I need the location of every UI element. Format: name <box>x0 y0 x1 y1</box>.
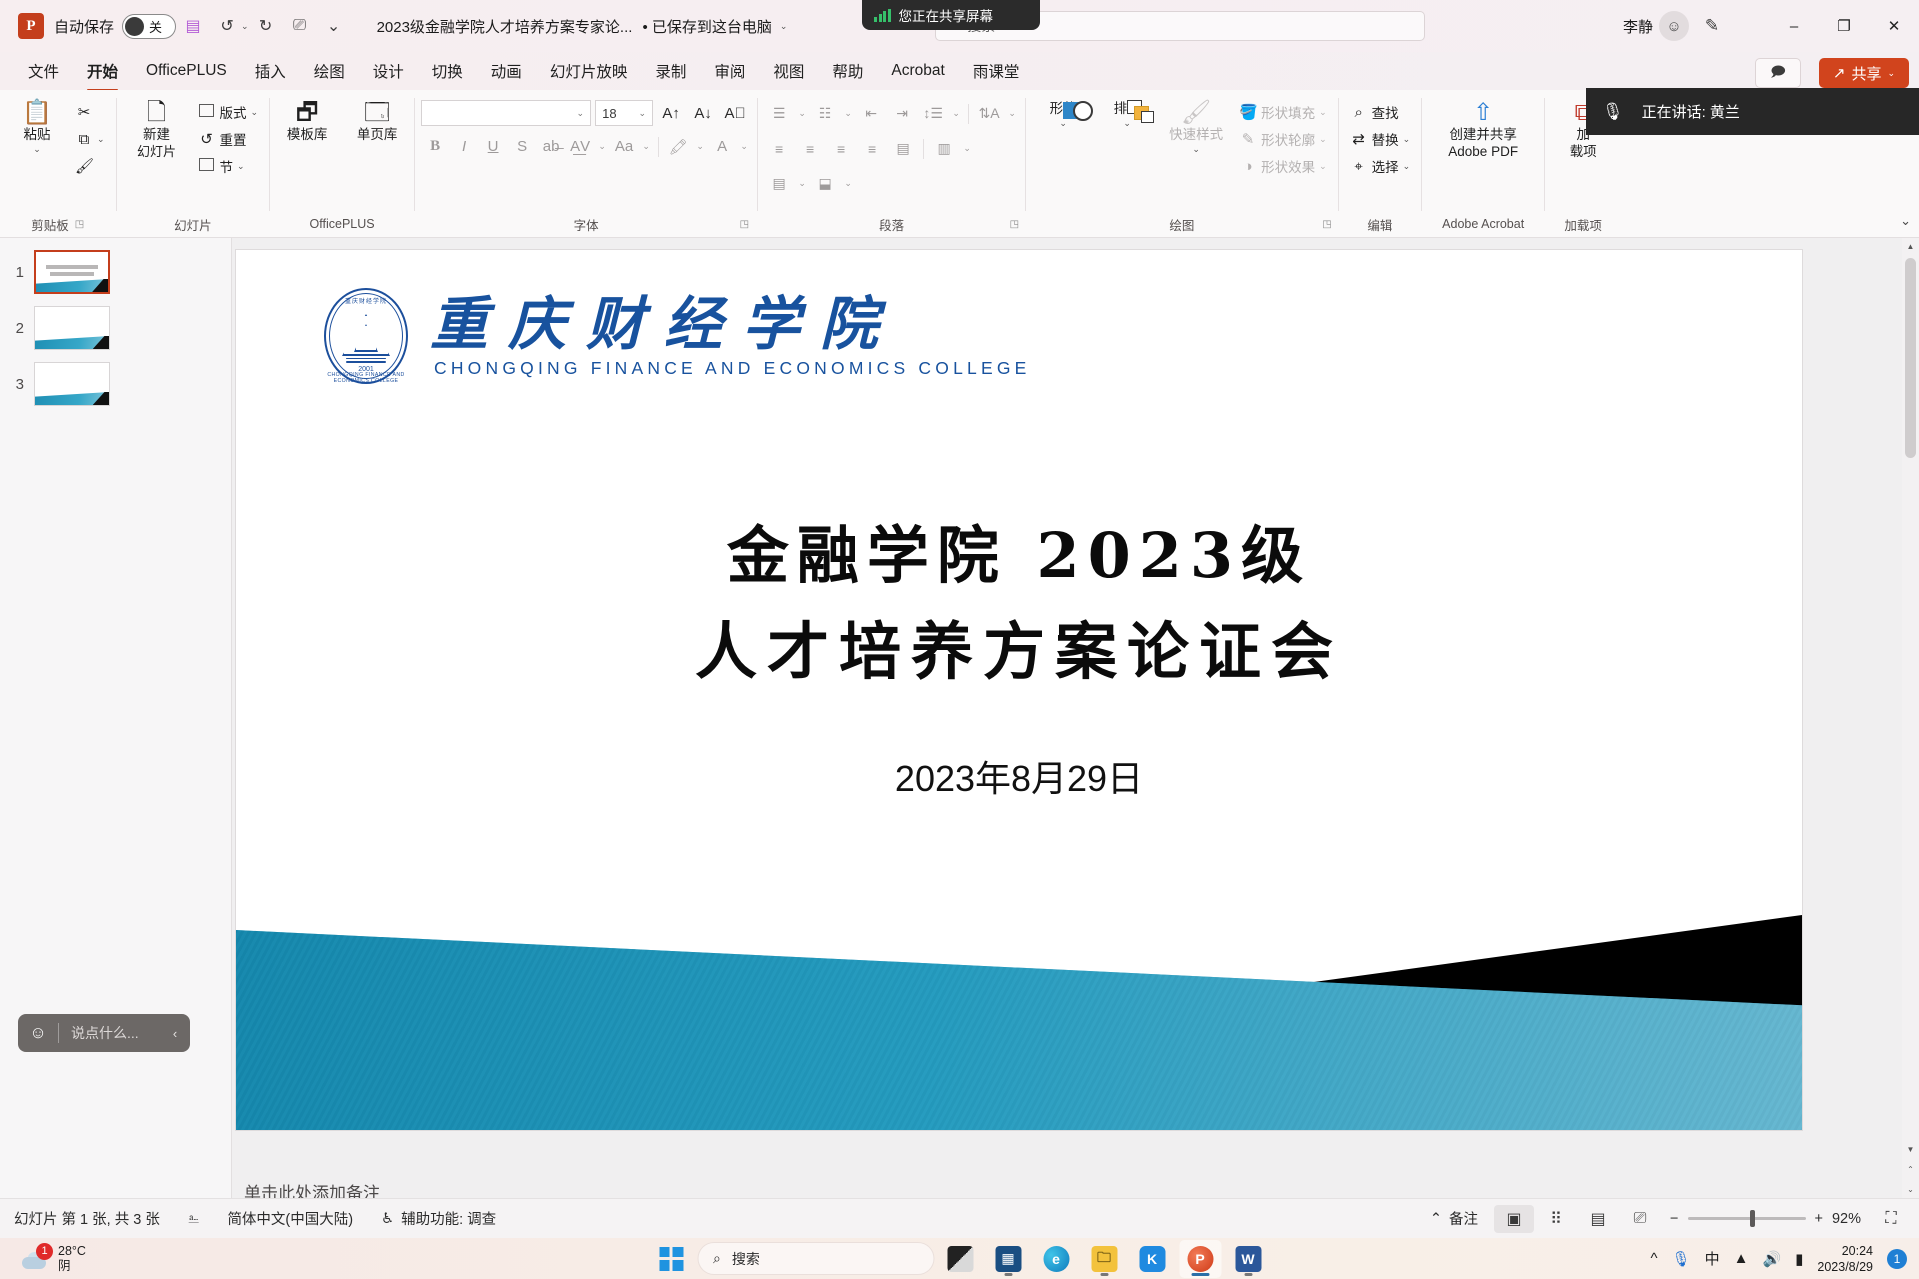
italic-button[interactable]: I <box>450 133 478 160</box>
share-icon: ↗ <box>1833 64 1846 82</box>
wps-office-icon[interactable]: K <box>1131 1240 1173 1278</box>
tab-yuketang[interactable]: 雨课堂 <box>959 55 1034 87</box>
university-seal-icon: 重庆财经学院 2001 CHONGQING FINANCE AND ECONOM… <box>318 288 414 384</box>
arrange-button[interactable]: 排列 ⌄ <box>1096 94 1158 129</box>
distribute-icon[interactable]: ▤ <box>888 135 918 162</box>
shape-outline-button: ✎形状轮廓⌄ <box>1234 126 1332 152</box>
tab-review[interactable]: 审阅 <box>700 55 759 87</box>
volume-icon[interactable]: 🔊 <box>1762 1250 1781 1268</box>
taskbar-center: ⌕ 搜索 ▦ e 🗀 K P <box>650 1240 1269 1278</box>
accessibility-status[interactable]: ♿ 辅助功能: 调查 <box>367 1208 510 1229</box>
decrease-indent-icon[interactable]: ⇤ <box>856 100 886 127</box>
notes-toggle-label: 备注 <box>1449 1208 1478 1229</box>
single-page-library-button[interactable]: 🗔 单页库 <box>346 94 408 143</box>
shapes-button[interactable]: 形状 ⌄ <box>1032 94 1094 129</box>
chevron-down-icon: ⌄ <box>1319 107 1327 118</box>
thumbnail-item[interactable]: 3 <box>0 350 231 406</box>
thumbnail-number: 3 <box>10 362 24 393</box>
toggle-knob <box>125 17 144 36</box>
chevron-down-icon[interactable]: ⌄ <box>97 134 105 145</box>
save-icon[interactable]: ▤ <box>178 11 208 41</box>
shape-fill-label: 形状填充 <box>1261 102 1315 122</box>
group-label-font: 字体 <box>574 215 599 234</box>
share-label: 共享 <box>1851 63 1881 84</box>
ribbon-group-acrobat: ⇧ 创建并共享 Adobe PDF Adobe Acrobat <box>1422 90 1544 237</box>
section-button[interactable]: 节⌄ <box>193 153 264 179</box>
ribbon-tabs: 文件 开始 OfficePLUS 插入 绘图 设计 切换 动画 幻灯片放映 录制… <box>0 52 1919 90</box>
drawing-dialog-launcher[interactable]: ◳ <box>1322 219 1331 230</box>
thumbnail-number: 1 <box>10 250 24 281</box>
find-button[interactable]: ⌕查找 <box>1345 99 1416 125</box>
taskbar: 1 28°C 阴 ⌕ 搜索 ▦ e <box>0 1238 1919 1279</box>
create-share-label-2: Adobe PDF <box>1448 144 1518 160</box>
slide-date-textbox[interactable]: 2023年8月29日 <box>236 750 1802 802</box>
slide-thumbnail-1[interactable] <box>34 250 110 294</box>
shape-outline-label: 形状轮廓 <box>1261 129 1315 149</box>
maximize-button[interactable]: ❐ <box>1819 0 1869 52</box>
cut-button[interactable]: ✂ <box>70 99 110 125</box>
chevron-down-icon[interactable]: ⌄ <box>595 133 609 160</box>
zoom-in-button[interactable]: + <box>1815 1211 1823 1227</box>
language-indicator[interactable]: 简体中文(中国大陆) <box>213 1208 367 1229</box>
widgets-icon[interactable] <box>939 1240 981 1278</box>
clock-date: 2023/8/29 <box>1817 1260 1873 1274</box>
copy-button[interactable]: ⧉⌄ <box>70 126 110 152</box>
group-label-acrobat: Adobe Acrobat <box>1442 217 1524 231</box>
slide-canvas[interactable]: 重庆财经学院 2001 CHONGQING FINANCE AND ECONOM… <box>236 250 1802 1130</box>
weather-widget[interactable]: 1 28°C 阴 <box>0 1244 86 1274</box>
new-slide-label-2: 幻灯片 <box>137 144 176 160</box>
tab-record[interactable]: 录制 <box>641 55 700 87</box>
weather-temperature: 28°C <box>58 1244 86 1259</box>
divider <box>658 137 659 157</box>
wifi-icon[interactable]: ▲ <box>1734 1250 1749 1267</box>
zoom-slider[interactable] <box>1688 1217 1806 1220</box>
fit-to-window-button[interactable]: ⛶ <box>1871 1205 1911 1233</box>
replace-label: 替换 <box>1372 129 1399 149</box>
title-line-2: 人才培养方案论证会 <box>236 602 1802 702</box>
copy-icon: ⧉ <box>75 131 93 148</box>
create-share-label-1: 创建并共享 <box>1449 127 1517 143</box>
slide-editor[interactable]: 重庆财经学院 2001 CHONGQING FINANCE AND ECONOM… <box>236 238 1882 1168</box>
chevron-down-icon[interactable]: ⌄ <box>1059 118 1067 129</box>
reading-view-button[interactable]: ▤ <box>1578 1205 1618 1233</box>
shape-fill-button: 🪣形状填充⌄ <box>1234 99 1332 125</box>
notification-center-badge[interactable]: 1 <box>1887 1249 1907 1269</box>
group-label-slides: 幻灯片 <box>174 215 212 234</box>
scissors-icon: ✂ <box>75 103 93 121</box>
quick-styles-icon: 🖌 <box>1181 100 1211 126</box>
taskbar-search-placeholder: 搜索 <box>732 1249 760 1269</box>
template-library-button[interactable]: 🗗 模板库 <box>276 94 338 143</box>
powerpoint-taskbar-icon[interactable]: P <box>1179 1240 1221 1278</box>
shape-outline-icon: ✎ <box>1239 130 1257 148</box>
layout-button[interactable]: 版式⌄ <box>193 99 264 125</box>
find-label: 查找 <box>1372 102 1399 122</box>
create-share-pdf-button[interactable]: ⇧ 创建并共享 Adobe PDF <box>1428 94 1538 160</box>
collapse-chat-icon[interactable]: ‹ <box>160 1026 190 1041</box>
font-dialog-launcher[interactable]: ◳ <box>740 219 749 230</box>
chevron-down-icon: ⌄ <box>1319 161 1327 172</box>
close-button[interactable]: ✕ <box>1869 0 1919 52</box>
chevron-down-icon[interactable]: ⌄ <box>795 100 809 127</box>
notes-toggle-button[interactable]: ⌃ 备注 <box>1416 1208 1492 1229</box>
taskbar-clock[interactable]: 20:24 2023/8/29 <box>1817 1243 1873 1275</box>
thumbnail-item[interactable]: 1 <box>0 238 231 294</box>
window-controls: – ❐ ✕ <box>1769 0 1919 52</box>
increase-font-size-icon[interactable]: A↑ <box>657 100 685 126</box>
align-left-icon[interactable]: ≡ <box>764 135 794 162</box>
zoom-control[interactable]: − + 92% <box>1662 1211 1869 1227</box>
show-hidden-icons-icon[interactable]: ^ <box>1650 1250 1657 1267</box>
undo-icon[interactable]: ↺ <box>212 11 242 41</box>
chevron-down-icon[interactable]: ⌄ <box>841 100 855 127</box>
change-case-button[interactable]: Aa <box>610 133 638 160</box>
shape-effects-label: 形状效果 <box>1261 156 1315 176</box>
ribbon-group-slides: 🗋 新建 幻灯片 版式⌄ ↺重置 节⌄ 幻灯片 <box>117 90 270 237</box>
undo-dropdown-icon[interactable]: ⌄ <box>241 21 249 32</box>
battery-charging-icon[interactable]: ▮ <box>1795 1250 1803 1268</box>
work-area: 1 2 3 <box>0 238 1919 1198</box>
file-explorer-icon[interactable]: 🗀 <box>1083 1240 1125 1278</box>
tab-insert[interactable]: 插入 <box>241 55 300 87</box>
chevron-down-icon[interactable]: ⌄ <box>1005 100 1019 127</box>
numbering-icon[interactable]: ☷ <box>810 100 840 127</box>
font-size-input[interactable]: 18 ⌄ <box>595 100 653 126</box>
autosave-toggle[interactable]: 关 <box>122 14 176 39</box>
saved-state-dropdown-icon[interactable]: ⌄ <box>780 21 788 32</box>
user-name: 李静 <box>1623 16 1653 37</box>
addins-label-2: 载项 <box>1570 144 1597 160</box>
share-button[interactable]: ↗ 共享 ⌄ <box>1819 58 1909 88</box>
ribbon-group-drawing: 形状 ⌄ 排列 ⌄ 🖌 快速样式 ⌄ 🪣形状填充⌄ ✎形状 <box>1026 90 1338 237</box>
start-presentation-icon[interactable]: ⎚ <box>285 11 315 41</box>
vertical-scrollbar[interactable]: ▲ ▼ ⌃ ⌄ <box>1902 238 1919 1198</box>
chevron-down-icon[interactable]: ⌄ <box>795 170 809 197</box>
single-page-library-icon: 🗔 <box>364 100 390 126</box>
justify-icon[interactable]: ≡ <box>857 135 887 162</box>
thumb-title-line <box>46 265 98 269</box>
shape-effects-icon: ◑ <box>1239 158 1257 175</box>
group-label-drawing: 绘图 <box>1169 215 1194 234</box>
speaking-text: 正在讲话: 黄兰 <box>1642 101 1740 122</box>
divider <box>968 104 969 124</box>
chevron-down-icon[interactable]: ⌄ <box>693 133 707 160</box>
microsoft-store-icon[interactable]: ▦ <box>987 1240 1029 1278</box>
thumb-title-line <box>50 272 94 276</box>
columns-icon[interactable]: ▥ <box>929 135 959 162</box>
next-slide-icon[interactable]: ⌄ <box>1902 1181 1919 1198</box>
chevron-down-icon[interactable]: ⌄ <box>841 170 855 197</box>
chevron-down-icon[interactable]: ⌄ <box>949 100 963 127</box>
section-label: 节 <box>220 156 234 176</box>
microsoft-edge-icon[interactable]: e <box>1035 1240 1077 1278</box>
template-library-icon: 🗗 <box>296 100 319 126</box>
tab-view[interactable]: 视图 <box>759 55 818 87</box>
comments-button[interactable]: 🗩 <box>1755 58 1801 88</box>
group-label-paragraph: 段落 <box>879 215 904 234</box>
seal-arc-bottom-text: CHONGQING FINANCE AND ECONOMICS COLLEGE <box>318 372 414 384</box>
tab-help[interactable]: 帮助 <box>818 55 877 87</box>
group-label-clipboard: 剪贴板 <box>31 215 69 234</box>
quick-styles-button: 🖌 快速样式 ⌄ <box>1160 94 1232 155</box>
logo-english-name: CHONGQING FINANCE AND ECONOMICS COLLEGE <box>430 358 1031 379</box>
font-name-input[interactable]: ⌄ <box>421 100 591 126</box>
powerpoint-icon: P <box>18 13 44 39</box>
convert-smartart-icon[interactable]: ⬓ <box>810 170 840 197</box>
chevron-down-icon: ⌄ <box>1192 144 1200 155</box>
chevron-down-icon: ⌄ <box>639 108 647 119</box>
signal-bars-icon <box>874 9 891 22</box>
scrollbar-thumb[interactable] <box>1905 258 1916 458</box>
search-icon: ⌕ <box>1350 104 1368 121</box>
tab-officeplus[interactable]: OfficePLUS <box>132 57 241 85</box>
ribbon-group-officeplus: 🗗 模板库 🗔 单页库 OfficePLUS <box>270 90 414 237</box>
new-slide-button[interactable]: 🗋 新建 幻灯片 <box>123 94 191 160</box>
saved-state-label[interactable]: • 已保存到这台电脑 <box>642 16 771 37</box>
autosave-state: 关 <box>149 17 162 36</box>
chevron-down-icon: ⌄ <box>1319 134 1327 145</box>
align-right-icon[interactable]: ≡ <box>826 135 856 162</box>
layout-icon <box>198 104 216 121</box>
font-color-icon[interactable]: A <box>708 133 736 160</box>
chat-placeholder[interactable]: 说点什么... <box>59 1023 160 1043</box>
thumbnail-number: 2 <box>10 306 24 337</box>
slide-title-textbox[interactable]: 金融学院 2023级 人才培养方案论证会 <box>236 510 1802 702</box>
chevron-down-icon: ⌄ <box>1403 134 1411 145</box>
group-label-officeplus: OfficePLUS <box>310 217 375 231</box>
increase-indent-icon[interactable]: ⇥ <box>887 100 917 127</box>
customize-quick-access-icon[interactable]: ⌄ <box>319 11 349 41</box>
group-label-addins: 加载项 <box>1564 215 1602 234</box>
replace-icon: ⇄ <box>1350 130 1368 148</box>
ribbon-group-editing: ⌕查找 ⇄替换⌄ ⌖选择⌄ 编辑 <box>1339 90 1422 237</box>
clock-time: 20:24 <box>1842 1244 1873 1258</box>
screen-sharing-banner[interactable]: 您正在共享屏幕 <box>862 0 1040 30</box>
scroll-down-icon[interactable]: ▼ <box>1902 1141 1919 1158</box>
new-slide-icon: 🗋 <box>147 100 166 126</box>
single-page-library-label: 单页库 <box>357 127 398 143</box>
chevron-down-icon[interactable]: ⌄ <box>1123 118 1131 129</box>
zoom-slider-handle[interactable] <box>1750 1210 1755 1227</box>
accessibility-label: 辅助功能: 调查 <box>401 1208 496 1229</box>
zoom-out-button[interactable]: − <box>1670 1211 1678 1227</box>
reset-icon: ↺ <box>198 130 216 148</box>
underline-button[interactable]: U <box>479 133 507 160</box>
tab-draw[interactable]: 绘图 <box>300 55 359 87</box>
text-direction-icon[interactable]: ⇅A <box>974 100 1004 127</box>
zoom-value[interactable]: 92% <box>1832 1211 1861 1227</box>
select-label: 选择 <box>1372 156 1399 176</box>
paragraph-dialog-launcher[interactable]: ◳ <box>1010 219 1019 230</box>
logo-chinese-name: 重庆财经学院 <box>430 294 1031 356</box>
character-spacing-button[interactable]: A͟V <box>566 133 594 160</box>
quick-styles-label: 快速样式 <box>1169 127 1223 143</box>
tab-transitions[interactable]: 切换 <box>418 55 477 87</box>
ribbon-group-clipboard: 📋 粘贴 ⌄ ✂ ⧉⌄ 🖌 剪贴板 ◳ <box>0 90 116 237</box>
smiley-icon[interactable]: ☺ <box>18 1023 58 1043</box>
shape-fill-icon: 🪣 <box>1239 103 1257 121</box>
chevron-down-icon: ⌄ <box>1887 68 1895 79</box>
bullets-icon[interactable]: ☰ <box>764 100 794 127</box>
pen-annotation-icon[interactable]: ✎ <box>1695 9 1729 43</box>
status-bar: 幻灯片 第 1 张, 共 3 张 ⎁ 简体中文(中国大陆) ♿ 辅助功能: 调查… <box>0 1198 1919 1238</box>
autosave-label: 自动保存 <box>54 16 114 37</box>
screen-sharing-text: 您正在共享屏幕 <box>899 5 994 25</box>
align-text-icon[interactable]: ▤ <box>764 170 794 197</box>
word-taskbar-icon[interactable]: W <box>1227 1240 1269 1278</box>
reset-button[interactable]: ↺重置 <box>193 126 264 152</box>
chevron-down-icon[interactable]: ⌄ <box>639 133 653 160</box>
group-label-editing: 编辑 <box>1367 215 1392 234</box>
thumbnail-item[interactable]: 2 <box>0 294 231 350</box>
chevron-down-icon[interactable]: ⌄ <box>960 135 974 162</box>
title-line-1: 金融学院 2023级 <box>236 510 1802 602</box>
powerpoint-window: P 自动保存 关 ▤ ↺ ⌄ ↻ ⎚ ⌄ 2023级金融学院人才培养方案专家论.… <box>0 0 1919 1279</box>
shape-effects-button: ◑形状效果⌄ <box>1234 153 1332 179</box>
accessibility-icon: ♿ <box>381 1211 394 1227</box>
system-tray: ^ 🎙 中 ▲ 🔊 ▮ 20:24 2023/8/29 1 <box>1650 1243 1907 1275</box>
decrease-font-size-icon[interactable]: A↓ <box>689 100 717 126</box>
paste-icon: 📋 <box>22 100 52 126</box>
chevron-down-icon: ⌄ <box>251 107 259 118</box>
minimize-button[interactable]: – <box>1769 0 1819 52</box>
ribbon-group-font: ⌄ 18 ⌄ A↑ A↓ A⃠ B I U S ab̶ A͟V ⌄ <box>415 90 757 237</box>
replace-button[interactable]: ⇄替换⌄ <box>1345 126 1416 152</box>
windows-start-icon[interactable] <box>650 1240 692 1278</box>
clear-formatting-icon[interactable]: A⃠ <box>721 100 749 126</box>
format-painter-icon: 🖌 <box>75 157 93 175</box>
paste-button[interactable]: 📋 粘贴 ⌄ <box>6 94 68 155</box>
layout-label: 版式 <box>220 102 247 122</box>
seal-arc-top-text: 重庆财经学院 <box>318 296 414 305</box>
tab-animations[interactable]: 动画 <box>477 55 536 87</box>
collapse-ribbon-icon[interactable]: ⌄ <box>1900 213 1911 229</box>
format-painter-button[interactable]: 🖌 <box>70 153 110 179</box>
tab-home[interactable]: 开始 <box>73 55 132 87</box>
divider <box>923 139 924 159</box>
slide-thumbnail-2[interactable] <box>34 306 110 350</box>
text-highlight-icon[interactable]: 🖍 <box>664 133 692 160</box>
weather-cloud-icon: 1 <box>22 1247 50 1271</box>
bold-button[interactable]: B <box>421 133 449 160</box>
select-button[interactable]: ⌖选择⌄ <box>1345 153 1416 179</box>
template-library-label: 模板库 <box>287 127 328 143</box>
account-zone[interactable]: 李静 ☺ ✎ <box>1623 0 1729 52</box>
reset-label: 重置 <box>220 129 247 149</box>
tab-slideshow[interactable]: 幻灯片放映 <box>536 55 642 87</box>
clipboard-dialog-launcher[interactable]: ◳ <box>75 219 84 230</box>
notes-icon: ⌃ <box>1430 1211 1442 1227</box>
search-icon: ⌕ <box>713 1250 721 1267</box>
section-icon <box>198 158 216 175</box>
university-logo: 重庆财经学院 2001 CHONGQING FINANCE AND ECONOM… <box>318 288 1031 384</box>
ribbon-group-paragraph: ☰ ⌄ ☷ ⌄ ⇤ ⇥ ↕☰ ⌄ ⇅A ⌄ ≡ ≡ ≡ ≡ ▤ <box>758 90 1025 237</box>
chevron-down-icon: ⌄ <box>1403 161 1411 172</box>
normal-view-button[interactable]: ▣ <box>1494 1205 1534 1233</box>
line-spacing-icon[interactable]: ↕☰ <box>918 100 948 127</box>
align-center-icon[interactable]: ≡ <box>795 135 825 162</box>
redo-icon[interactable]: ↻ <box>251 11 281 41</box>
spellcheck-icon[interactable]: ⎁ <box>174 1211 214 1227</box>
previous-slide-icon[interactable]: ⌃ <box>1902 1161 1919 1178</box>
slide-thumbnail-3[interactable] <box>34 362 110 406</box>
document-title: 2023级金融学院人才培养方案专家论... <box>377 16 633 37</box>
microphone-icon: 🎙 <box>1602 102 1624 122</box>
paste-label: 粘贴 <box>24 127 51 143</box>
seal-waves-shape <box>346 354 386 364</box>
font-size-value: 18 <box>602 106 616 121</box>
avatar[interactable]: ☺ <box>1659 11 1689 41</box>
slide-sorter-button[interactable]: ⠿ <box>1536 1205 1576 1233</box>
new-slide-label-1: 新建 <box>143 127 170 143</box>
weather-condition: 阴 <box>58 1259 86 1274</box>
ime-indicator[interactable]: 中 <box>1705 1248 1720 1269</box>
notification-badge: 1 <box>36 1243 53 1260</box>
taskbar-search-box[interactable]: ⌕ 搜索 <box>698 1243 933 1274</box>
scroll-up-icon[interactable]: ▲ <box>1902 238 1919 255</box>
text-shadow-button[interactable]: S <box>508 133 536 160</box>
slide-counter[interactable]: 幻灯片 第 1 张, 共 3 张 <box>0 1208 174 1229</box>
chevron-down-icon[interactable]: ⌄ <box>737 133 751 160</box>
slideshow-button[interactable]: ⎚ <box>1620 1205 1660 1233</box>
chevron-down-icon: ⌄ <box>577 108 585 119</box>
chevron-down-icon[interactable]: ⌄ <box>33 144 41 155</box>
microphone-icon[interactable]: 🎙 <box>1672 1250 1691 1268</box>
strikethrough-button[interactable]: ab̶ <box>537 133 565 160</box>
slide-thumbnail-pane[interactable]: 1 2 3 <box>0 238 232 1198</box>
tab-file[interactable]: 文件 <box>14 55 73 87</box>
tab-acrobat[interactable]: Acrobat <box>877 57 958 85</box>
speaking-indicator-banner[interactable]: 🎙 正在讲话: 黄兰 <box>1586 88 1919 135</box>
cursor-icon: ⌖ <box>1350 158 1368 175</box>
tab-design[interactable]: 设计 <box>359 55 418 87</box>
chat-input-bar[interactable]: ☺ 说点什么... ‹ <box>18 1014 190 1052</box>
status-bar-right: ⌃ 备注 ▣ ⠿ ▤ ⎚ − + 92% ⛶ <box>1416 1205 1911 1233</box>
chevron-down-icon: ⌄ <box>237 161 245 172</box>
create-pdf-icon: ⇧ <box>1473 100 1493 126</box>
